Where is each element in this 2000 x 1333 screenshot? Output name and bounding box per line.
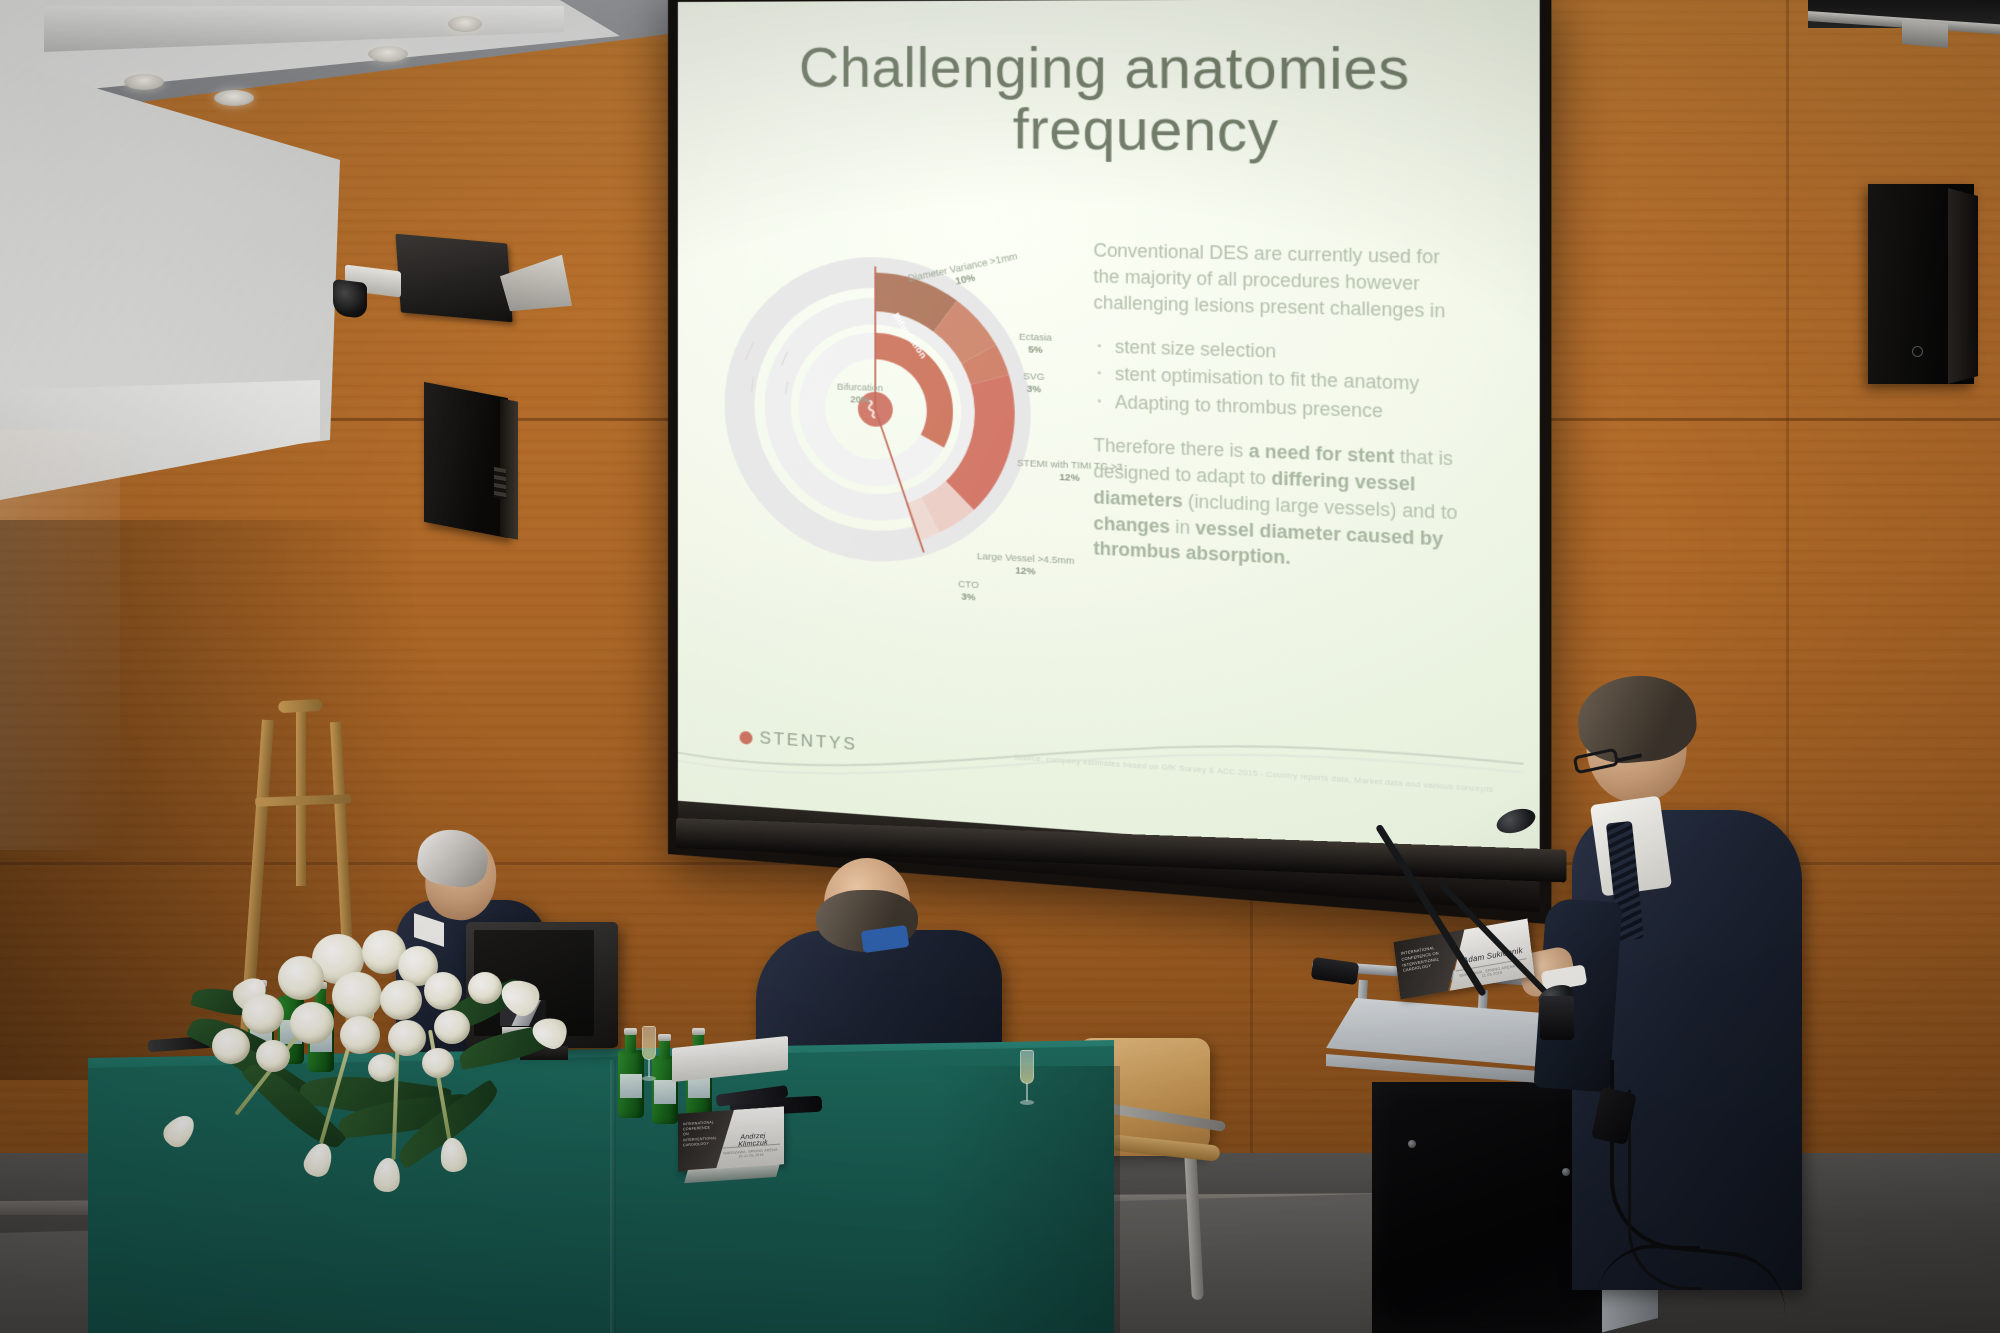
rose [332,972,382,1020]
chart-label-ectasia: Ectasia 5% [1019,332,1052,357]
rose [388,1020,426,1056]
downlight [368,46,408,62]
slide-closing-paragraph: Therefore there is a need for stent that… [1093,433,1459,580]
slide-content: Challenging anatomies frequency [678,0,1540,865]
speaker-brand-logo-icon [1912,346,1923,357]
bottle-label [620,1074,642,1098]
nameplate-conference-logo: INTERNATIONALCONFERENCE ONINTERVENTIONAL… [683,1120,713,1148]
wall-speaker-left [424,382,508,538]
slide-title-line-2: frequency [855,98,1450,165]
rose [290,1002,334,1044]
flute-stem [648,1059,650,1077]
rose [424,972,462,1010]
lectern-screw [1562,1168,1570,1176]
chart-label-svg: SVG 3% [1023,371,1044,396]
slide-body: Conventional DES are currently used for … [1093,238,1459,598]
projected-slide: Challenging anatomies frequency [678,0,1540,865]
chart-label-bifurcation-inner: Bifurcation 20% [828,381,891,407]
rose [278,956,324,1000]
slide-intro-paragraph: Conventional DES are currently used for … [1093,238,1459,325]
lectern-screw [1408,1140,1416,1148]
flute-stem [1026,1083,1028,1101]
easel-top-knob [278,699,323,713]
security-camera-lens-icon [333,279,367,319]
table-cloth-fold [610,1060,616,1333]
flute-bowl [1020,1050,1034,1084]
calla-lily [373,1157,402,1194]
rose [380,980,422,1020]
bottle-label [654,1080,676,1104]
downlight [448,16,482,32]
flower-arrangement [182,932,582,1232]
chart-label-large-vessel: Large Vessel >4.5mm 12% [977,551,1074,580]
flute-foot [642,1076,656,1081]
ceiling-monitor [395,234,512,323]
rose [242,994,284,1034]
lectern-front-panel [1372,1082,1602,1333]
chart-label-cto: CTO 3% [958,579,979,604]
nameplate-seated: INTERNATIONALCONFERENCE ONINTERVENTIONAL… [678,1106,784,1171]
downlight [124,74,164,90]
slide-title: Challenging anatomies frequency [764,37,1450,165]
rose [422,1048,454,1078]
wall-speaker-right-side [1948,188,1978,384]
rose [256,1040,290,1072]
flute-foot [1020,1100,1034,1105]
microphone-base-2 [1540,996,1574,1040]
donut-chart-svg [724,225,1064,605]
slide-bullet-list: stent size selection stent optimisation … [1093,333,1459,428]
champagne-flute[interactable] [640,1026,658,1082]
speaker-connector-panel [494,467,506,499]
rose [434,1010,470,1044]
stentys-logo-dot-icon [740,730,753,744]
rose [468,972,502,1004]
champagne-flute[interactable] [1018,1050,1036,1118]
rose [368,1054,398,1082]
rose [212,1028,250,1064]
flute-bowl [642,1026,656,1060]
downlight [214,90,254,106]
rose [340,1016,380,1054]
projection-screen: Challenging anatomies frequency [668,0,1551,924]
wall-tv-bracket [1902,20,1948,48]
calla-lily [495,973,545,1021]
donut-chart: Diameter Variance >1mm 10% Ectasia 5% SV… [724,225,1064,605]
conference-room-photo: Challenging anatomies frequency [0,0,2000,1333]
slide-title-line-1: Challenging anatomies [799,35,1410,102]
